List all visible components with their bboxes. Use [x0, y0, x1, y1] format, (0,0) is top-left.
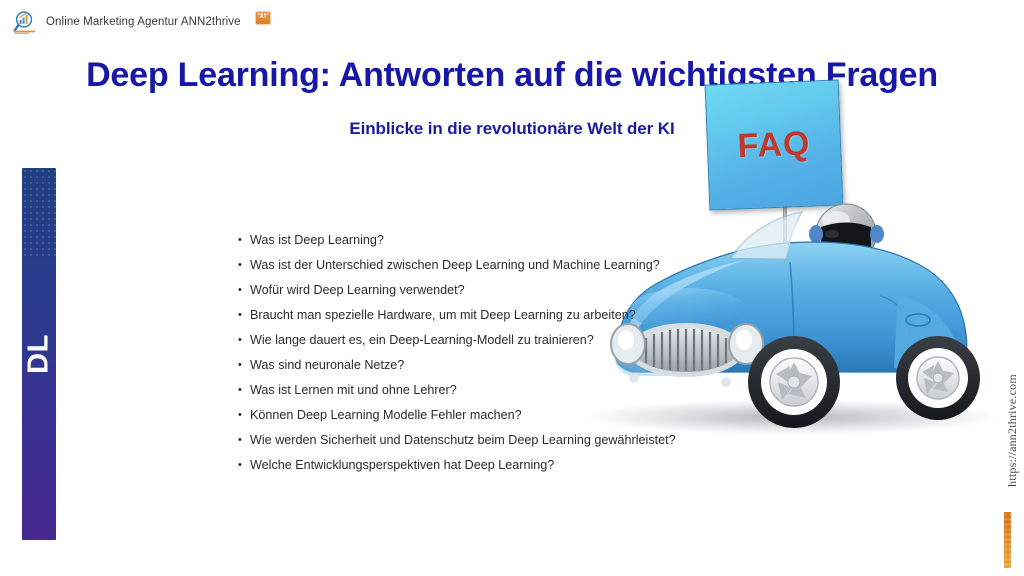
side-tab-dl: DL	[22, 168, 56, 540]
list-item: Können Deep Learning Modelle Fehler mach…	[238, 403, 708, 428]
list-item: Was ist Deep Learning?	[238, 228, 708, 253]
chart-magnifier-logo-icon	[12, 9, 38, 35]
list-item: Was sind neuronale Netze?	[238, 353, 708, 378]
list-item: Welche Entwicklungsperspektiven hat Deep…	[238, 453, 708, 478]
list-item: Braucht man spezielle Hardware, um mit D…	[238, 303, 708, 328]
list-item: Wofür wird Deep Learning verwendet?	[238, 278, 708, 303]
list-item: Wie lange dauert es, ein Deep-Learning-M…	[238, 328, 708, 353]
faq-question-list: Was ist Deep Learning? Was ist der Unter…	[238, 228, 708, 478]
header-badge[interactable]: AI	[256, 12, 271, 25]
brand-title: Online Marketing Agentur ANN2thrive	[46, 16, 241, 28]
list-item: Was ist Lernen mit und ohne Lehrer?	[238, 378, 708, 403]
car-rear-wheel	[896, 336, 980, 420]
side-tab-label: DL	[23, 334, 56, 374]
list-item: Wie werden Sicherheit und Datenschutz be…	[238, 428, 708, 453]
side-tab-dot-pattern	[22, 168, 56, 258]
page-header: Online Marketing Agentur ANN2thrive AI	[0, 0, 1024, 44]
car-front-wheel	[748, 336, 840, 428]
accent-bar	[1004, 512, 1011, 568]
list-item: Was ist der Unterschied zwischen Deep Le…	[238, 253, 708, 278]
